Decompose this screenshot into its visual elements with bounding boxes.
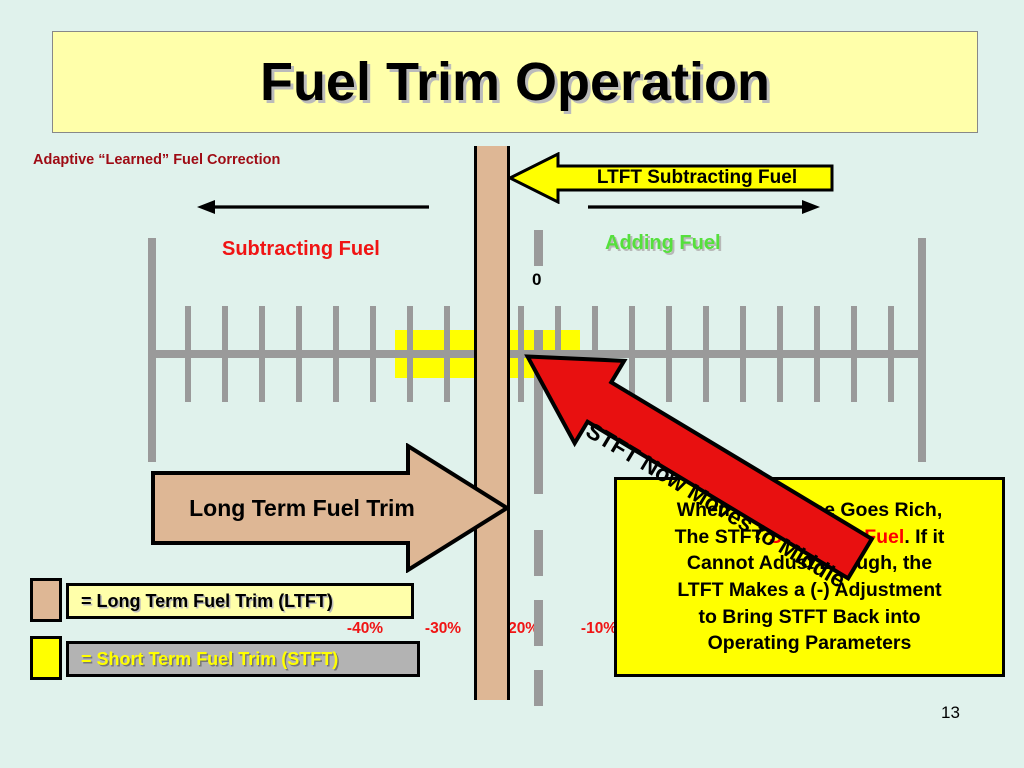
- scale-tick-2: [222, 306, 228, 402]
- ltft-vertical-bar: [474, 146, 510, 700]
- legend-label-stft: = Short Term Fuel Trim (STFT): [81, 649, 338, 670]
- explanation-line-5: to Bring STFT Back into: [698, 604, 920, 631]
- scale-tick-17: [777, 306, 783, 402]
- scale-tick-15: [703, 306, 709, 402]
- scale-tick-3: [259, 306, 265, 402]
- explanation-line-3: Cannot Adust Enough, the: [687, 550, 932, 577]
- explanation-box: When the Engine Goes Rich, The STFT Subt…: [614, 477, 1005, 677]
- scale-tick-1: [185, 306, 191, 402]
- explanation-line-6: Operating Parameters: [708, 630, 912, 657]
- zero-dash-segment-1: [534, 330, 543, 376]
- page-number: 13: [941, 703, 960, 723]
- scale-tick-label-1: -30%: [408, 620, 478, 638]
- subtracting-direction-arrow: [195, 196, 431, 223]
- long-term-fuel-trim-arrow: Long Term Fuel Trim: [150, 443, 510, 573]
- explanation-line-2a: The STFT: [675, 526, 769, 548]
- explanation-line-2: The STFT Subtracts Fuel. If it: [675, 524, 945, 551]
- slide-root: Fuel Trim Operation Adaptive “Learned” F…: [0, 0, 1024, 768]
- scale-tick-6: [370, 306, 376, 402]
- legend-item-ltft: = Long Term Fuel Trim (LTFT): [66, 583, 414, 619]
- scale-tick-4: [296, 306, 302, 402]
- scale-tick-12: [592, 306, 598, 402]
- scale-tick-5: [333, 306, 339, 402]
- ltft-subtracting-callout: LTFT Subtracting Fuel: [508, 152, 834, 204]
- legend-swatch-ltft: [30, 578, 62, 622]
- scale-tick-18: [814, 306, 820, 402]
- explanation-line-1c: Goes Rich,: [835, 499, 942, 521]
- legend-item-stft: = Short Term Fuel Trim (STFT): [66, 641, 420, 677]
- scale-tick-16: [740, 306, 746, 402]
- explanation-line-1b: Engine: [770, 499, 835, 521]
- page-title: Fuel Trim Operation: [260, 51, 770, 113]
- zero-dash-segment-0: [534, 230, 543, 266]
- zero-dash-segment-4: [534, 600, 543, 646]
- explanation-line-2c: . If it: [904, 526, 944, 548]
- explanation-line-2b: Subtracts Fuel: [769, 526, 904, 548]
- zero-reference-dashed-line: [534, 230, 543, 650]
- scale-tick-7: [407, 306, 413, 402]
- zero-dash-segment-2: [534, 376, 543, 494]
- explanation-line-4: LTFT Makes a (-) Adjustment: [677, 577, 941, 604]
- explanation-line-1a: When the: [677, 499, 770, 521]
- scale-tick-20: [888, 306, 894, 402]
- scale-tick-10: [518, 306, 524, 402]
- scale-tick-14: [666, 306, 672, 402]
- ltft-subtracting-callout-label: LTFT Subtracting Fuel: [560, 152, 834, 204]
- scale-tick-21: [918, 306, 924, 402]
- scale-tick-11: [555, 306, 561, 402]
- title-box: Fuel Trim Operation: [52, 31, 978, 133]
- scale-tick-8: [444, 306, 450, 402]
- explanation-line-1: When the Engine Goes Rich,: [677, 497, 942, 524]
- zero-dash-segment-3: [534, 530, 543, 576]
- legend-label-ltft: = Long Term Fuel Trim (LTFT): [81, 591, 333, 612]
- adaptive-learned-label: Adaptive “Learned” Fuel Correction: [33, 152, 280, 168]
- legend-swatch-stft: [30, 636, 62, 680]
- scale-tick-19: [851, 306, 857, 402]
- scale-tick-13: [629, 306, 635, 402]
- scale-tick-0: [148, 306, 154, 402]
- long-term-fuel-trim-label: Long Term Fuel Trim: [162, 443, 442, 573]
- zero-dash-segment-5: [534, 670, 543, 706]
- scale-tick-label-0: -40%: [330, 620, 400, 638]
